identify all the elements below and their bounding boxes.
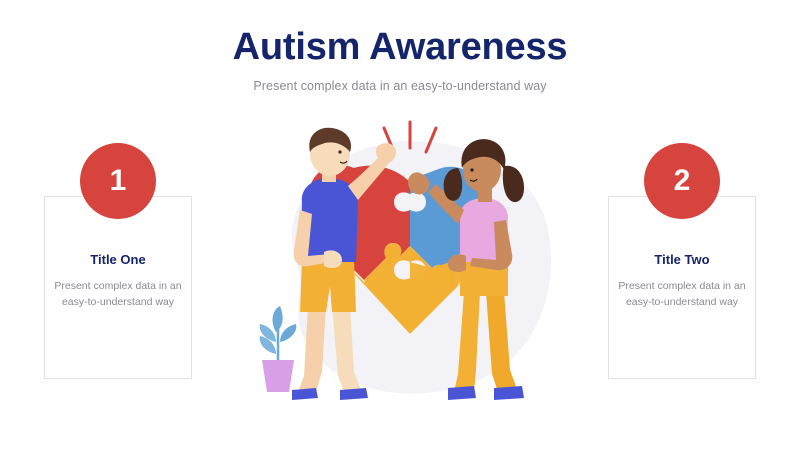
card-one-number-badge[interactable]: 1 (80, 143, 156, 219)
potted-plant (260, 306, 297, 392)
card-two-content: Title Two Present complex data in an eas… (617, 252, 747, 311)
boy-shoe-back (292, 388, 318, 400)
card-two-number-badge[interactable]: 2 (644, 143, 720, 219)
girl-shoe-front (494, 386, 524, 400)
header: Autism Awareness Present complex data in… (0, 26, 800, 93)
boy-shoe-front (340, 388, 368, 400)
card-one-number: 1 (110, 164, 127, 198)
page-subtitle: Present complex data in an easy-to-under… (0, 79, 800, 93)
slide-canvas: Autism Awareness Present complex data in… (0, 0, 800, 450)
boy-eye (338, 150, 341, 153)
card-two-title: Title Two (617, 252, 747, 267)
page-title: Autism Awareness (0, 26, 800, 69)
girl-eye (470, 168, 473, 171)
card-two-number: 2 (674, 164, 691, 198)
card-two[interactable]: Title Two Present complex data in an eas… (608, 196, 756, 379)
card-one[interactable]: Title One Present complex data in an eas… (44, 196, 192, 379)
plant-pot (262, 360, 294, 392)
card-two-body: Present complex data in an easy-to-under… (617, 278, 747, 311)
leaf-icon (280, 324, 296, 342)
illustration-two-children-puzzle-heart (236, 110, 576, 410)
card-one-body: Present complex data in an easy-to-under… (53, 278, 183, 311)
card-one-title: Title One (53, 252, 183, 267)
card-one-content: Title One Present complex data in an eas… (53, 252, 183, 311)
girl-shoe-back (448, 386, 476, 400)
